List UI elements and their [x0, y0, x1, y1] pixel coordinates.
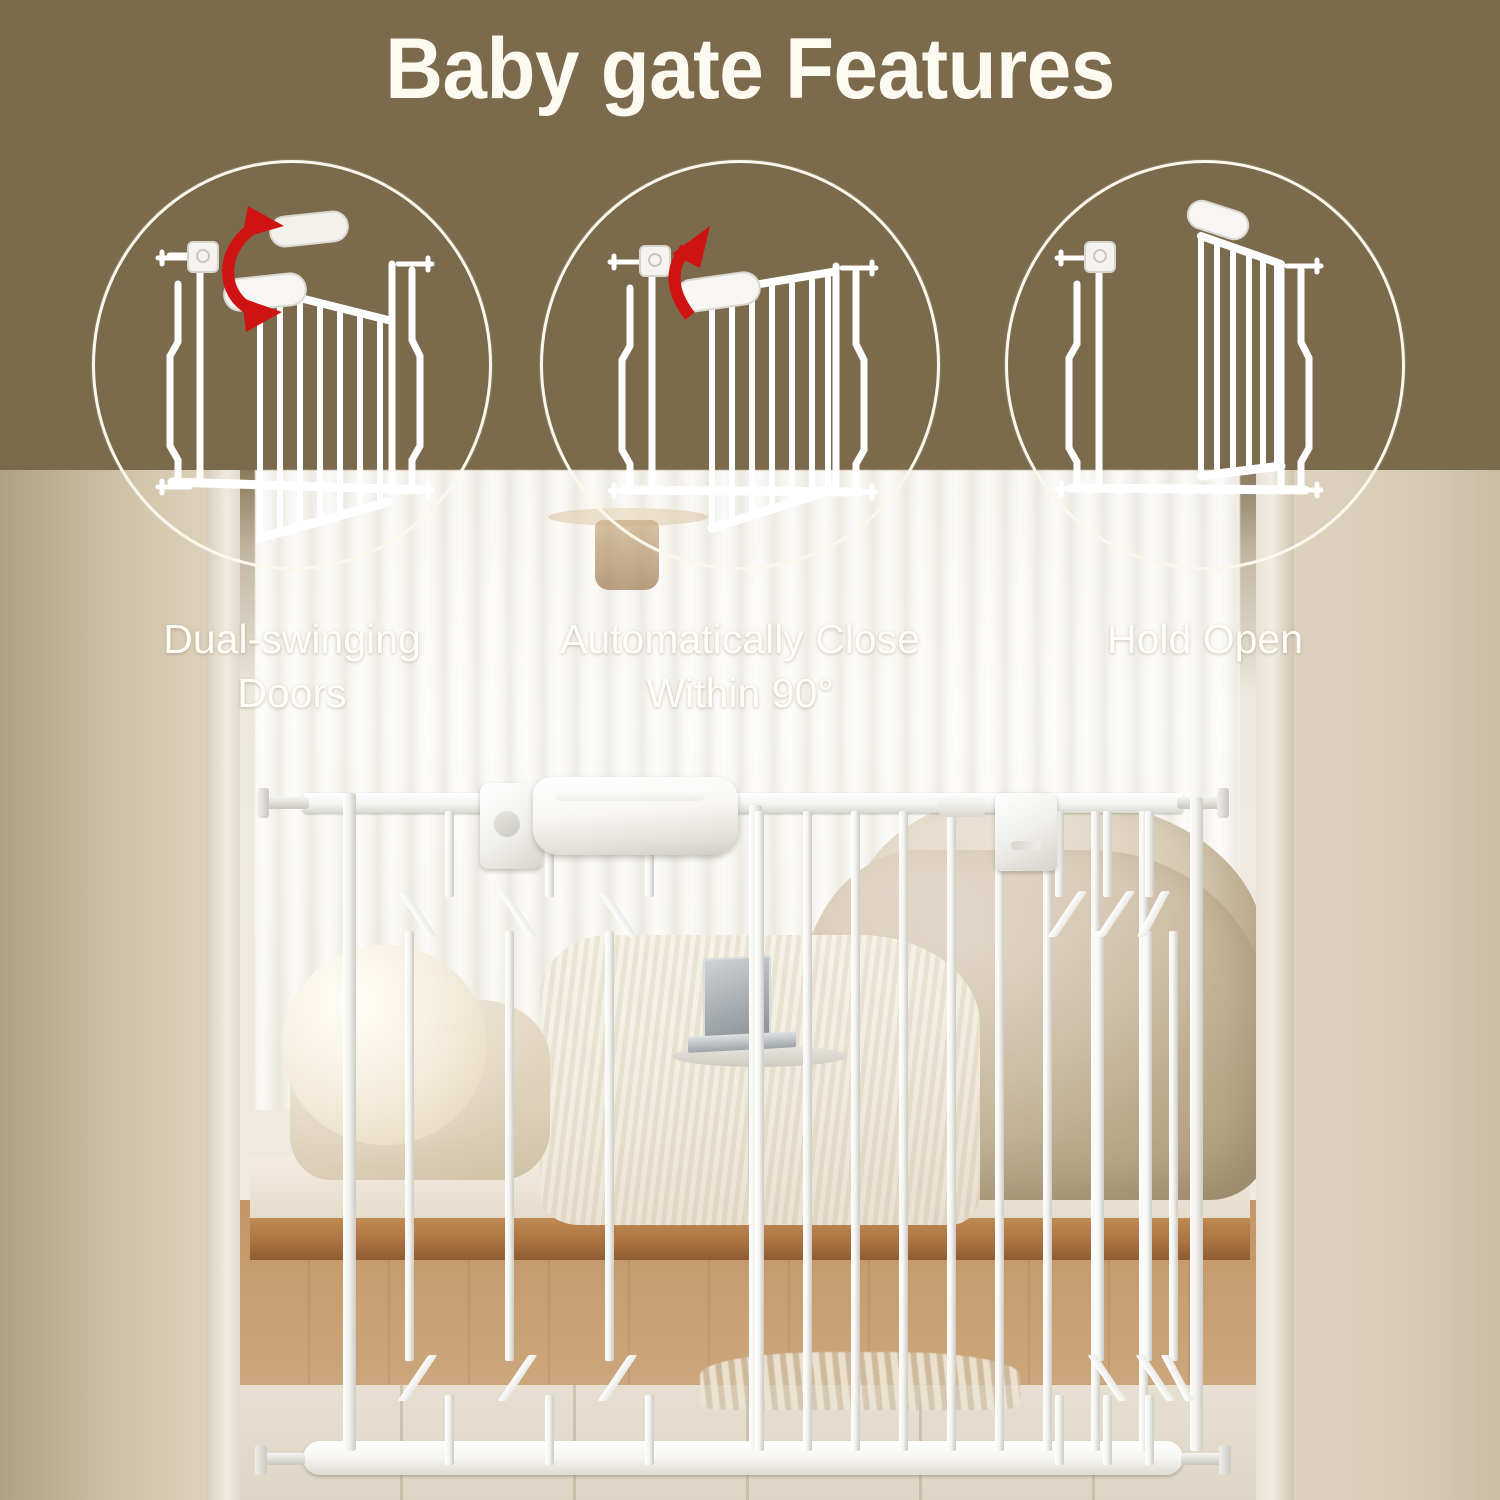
extension-bar-right-2 — [1103, 811, 1112, 1467]
extension-bar-right-1 — [1055, 811, 1064, 1467]
feature-1-caption: Dual-swinging Doors — [62, 612, 522, 720]
gate-bar — [803, 811, 812, 1451]
gate-bar — [995, 811, 1004, 1451]
feature-3-caption: Hold Open — [975, 612, 1435, 666]
feature-1-caption-line1: Dual-swinging — [163, 616, 421, 662]
gate-bar — [899, 811, 908, 1451]
installed-baby-gate — [255, 775, 1230, 1485]
mount-cap-top-left — [257, 788, 269, 818]
feature-2-caption-line1: Automatically Close — [560, 616, 920, 662]
feature-2-caption: Automatically Close Within 90° — [510, 612, 970, 720]
extension-bar-left-2 — [505, 811, 514, 1467]
mount-cap-top-right — [1217, 788, 1229, 818]
feature-2-ring — [540, 160, 940, 570]
feature-hold-open[interactable]: Hold Open — [975, 0, 1435, 760]
feature-1-ring — [92, 160, 492, 570]
feature-automatically-close[interactable]: Automatically Close Within 90° — [510, 0, 970, 760]
feature-3-ring — [1005, 160, 1405, 570]
gate-bar — [755, 811, 764, 1451]
feature-graphic-canvas: Baby gate Features — [0, 0, 1500, 1500]
feature-2-caption-line2: Within 90° — [510, 666, 970, 720]
gate-post-right — [1190, 797, 1203, 1451]
gate-bar — [947, 811, 956, 1451]
gate-bar — [1043, 811, 1052, 1451]
feature-1-caption-line2: Doors — [62, 666, 522, 720]
extension-bar-right-3 — [1145, 811, 1154, 1467]
mount-bolt-top-left — [263, 797, 309, 809]
extension-bar-left-1 — [405, 811, 414, 1467]
mount-cap-bottom-right — [1219, 1445, 1231, 1475]
mount-cap-bottom-left — [255, 1445, 267, 1475]
auto-close-hinge — [995, 793, 1057, 871]
feature-3-caption-line1: Hold Open — [1107, 616, 1303, 662]
gate-post-left — [343, 793, 356, 1451]
press-lever-handle — [533, 777, 738, 855]
feature-dual-swinging-doors[interactable]: Dual-swinging Doors — [62, 0, 522, 760]
gate-bar — [851, 811, 860, 1451]
extension-bar-left-3 — [605, 811, 614, 1467]
feature-circle-row: Dual-swinging Doors — [0, 0, 1500, 760]
